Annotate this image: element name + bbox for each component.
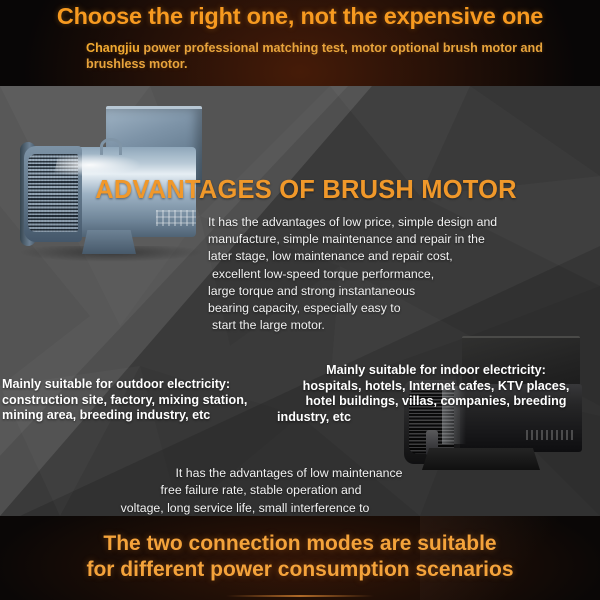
brush-desc-line: large torque and strong instantaneous <box>208 283 538 300</box>
brush-motor-lifting-lug <box>100 138 122 155</box>
header-band: Choose the right one, not the expensive … <box>0 0 600 86</box>
footer-band: The two connection modes are suitable fo… <box>0 516 600 600</box>
outdoor-note-line: mining area, breeding industry, etc <box>2 408 292 424</box>
indoor-note-line: Mainly suitable for indoor electricity: <box>275 363 597 379</box>
main-stage: ADVANTAGES OF BRUSH MOTOR It has the adv… <box>0 86 600 516</box>
indoor-note-line: hotel buildings, villas, companies, bree… <box>275 394 597 410</box>
outdoor-note-line: Mainly suitable for outdoor electricity: <box>2 377 292 393</box>
brush-motor-highlight <box>54 154 143 176</box>
brushless-desc-line: voltage, long service life, small interf… <box>40 500 442 516</box>
footer-underline-rule <box>226 595 374 597</box>
brushless-motor-description: It has the advantages of low maintenance… <box>40 465 442 516</box>
brush-motor-description: It has the advantages of low price, simp… <box>208 214 538 334</box>
brushless-desc-line: free failure rate, stable operation and <box>40 482 442 499</box>
brush-desc-line: It has the advantages of low price, simp… <box>208 214 538 231</box>
brand-name: Changjiu <box>86 41 140 55</box>
header-subtitle-text: power professional matching test, motor … <box>86 41 543 71</box>
infographic-poster: Choose the right one, not the expensive … <box>0 0 600 600</box>
indoor-note-line: industry, etc <box>275 410 597 426</box>
brush-desc-line: manufacture, simple maintenance and repa… <box>208 231 538 248</box>
brush-motor-section-title: ADVANTAGES OF BRUSH MOTOR <box>0 176 600 205</box>
indoor-usage-note: Mainly suitable for indoor electricity: … <box>275 363 597 425</box>
header-subtitle: Changjiu power professional matching tes… <box>86 40 586 72</box>
footer-tagline-line1: The two connection modes are suitable <box>0 530 600 557</box>
outdoor-note-line: construction site, factory, mixing stati… <box>2 393 292 409</box>
brushless-motor-air-grill <box>526 430 574 440</box>
brush-motor-foot <box>82 230 136 254</box>
footer-tagline-line2: for different power consumption scenario… <box>0 556 600 583</box>
indoor-note-line: hospitals, hotels, Internet cafes, KTV p… <box>275 379 597 395</box>
brush-desc-line: later stage, low maintenance and repair … <box>208 248 538 265</box>
brush-desc-line: excellent low-speed torque performance, <box>208 266 538 283</box>
outdoor-usage-note: Mainly suitable for outdoor electricity:… <box>2 377 292 424</box>
brush-desc-line: bearing capacity, especially easy to <box>208 300 538 317</box>
brushless-desc-line: It has the advantages of low maintenance <box>40 465 442 482</box>
page-title: Choose the right one, not the expensive … <box>0 3 600 30</box>
brush-motor-air-grill <box>156 210 196 226</box>
brush-desc-line: start the large motor. <box>208 317 538 334</box>
